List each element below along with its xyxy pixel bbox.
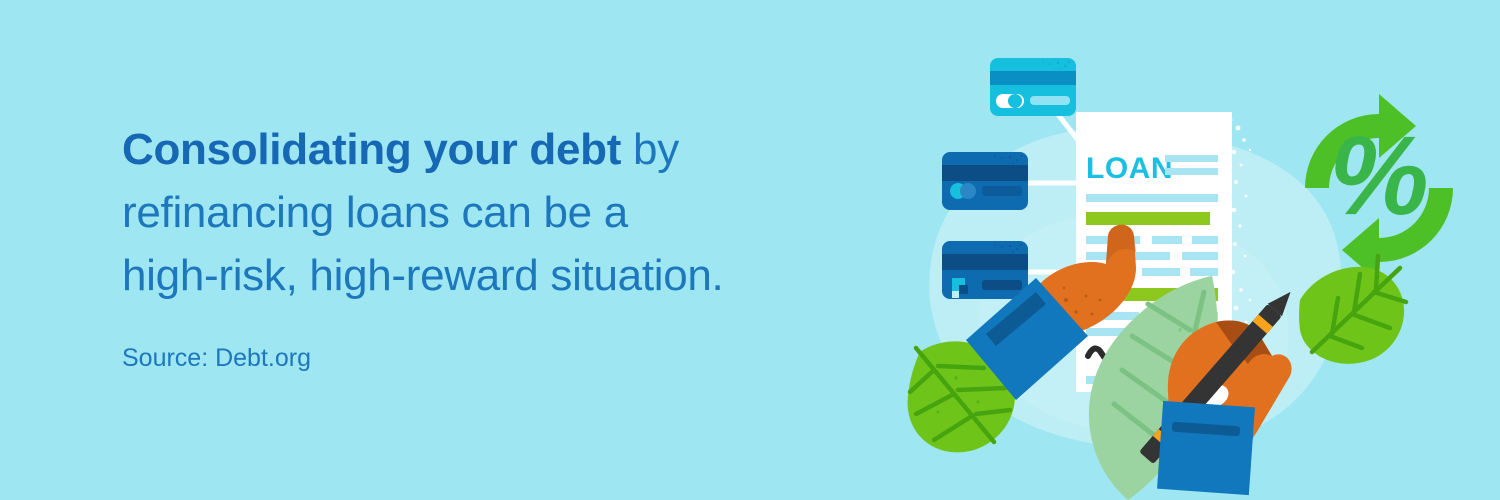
percent-symbol: %: [1329, 113, 1429, 238]
headline-bold: Consolidating your debt: [122, 125, 621, 174]
headline-line2: refinancing loans can be a: [122, 188, 628, 237]
credit-card-navy: [942, 152, 1028, 210]
headline-line3: high-risk, high-reward situation.: [122, 251, 723, 300]
text-block: Consolidating your debt byrefinancing lo…: [122, 118, 842, 373]
headline-rest: by: [621, 125, 679, 174]
credit-card-cyan: [990, 58, 1076, 116]
highlight-bar: [1086, 212, 1210, 225]
source-attribution: Source: Debt.org: [122, 307, 842, 373]
illustration: LOAN: [860, 0, 1500, 500]
credit-card-blue: [942, 241, 1028, 299]
promo-banner: Consolidating your debt byrefinancing lo…: [0, 0, 1500, 500]
page-title: Consolidating your debt byrefinancing lo…: [122, 118, 842, 307]
sleeve-right: [1157, 401, 1255, 495]
document-title: LOAN: [1086, 152, 1173, 185]
